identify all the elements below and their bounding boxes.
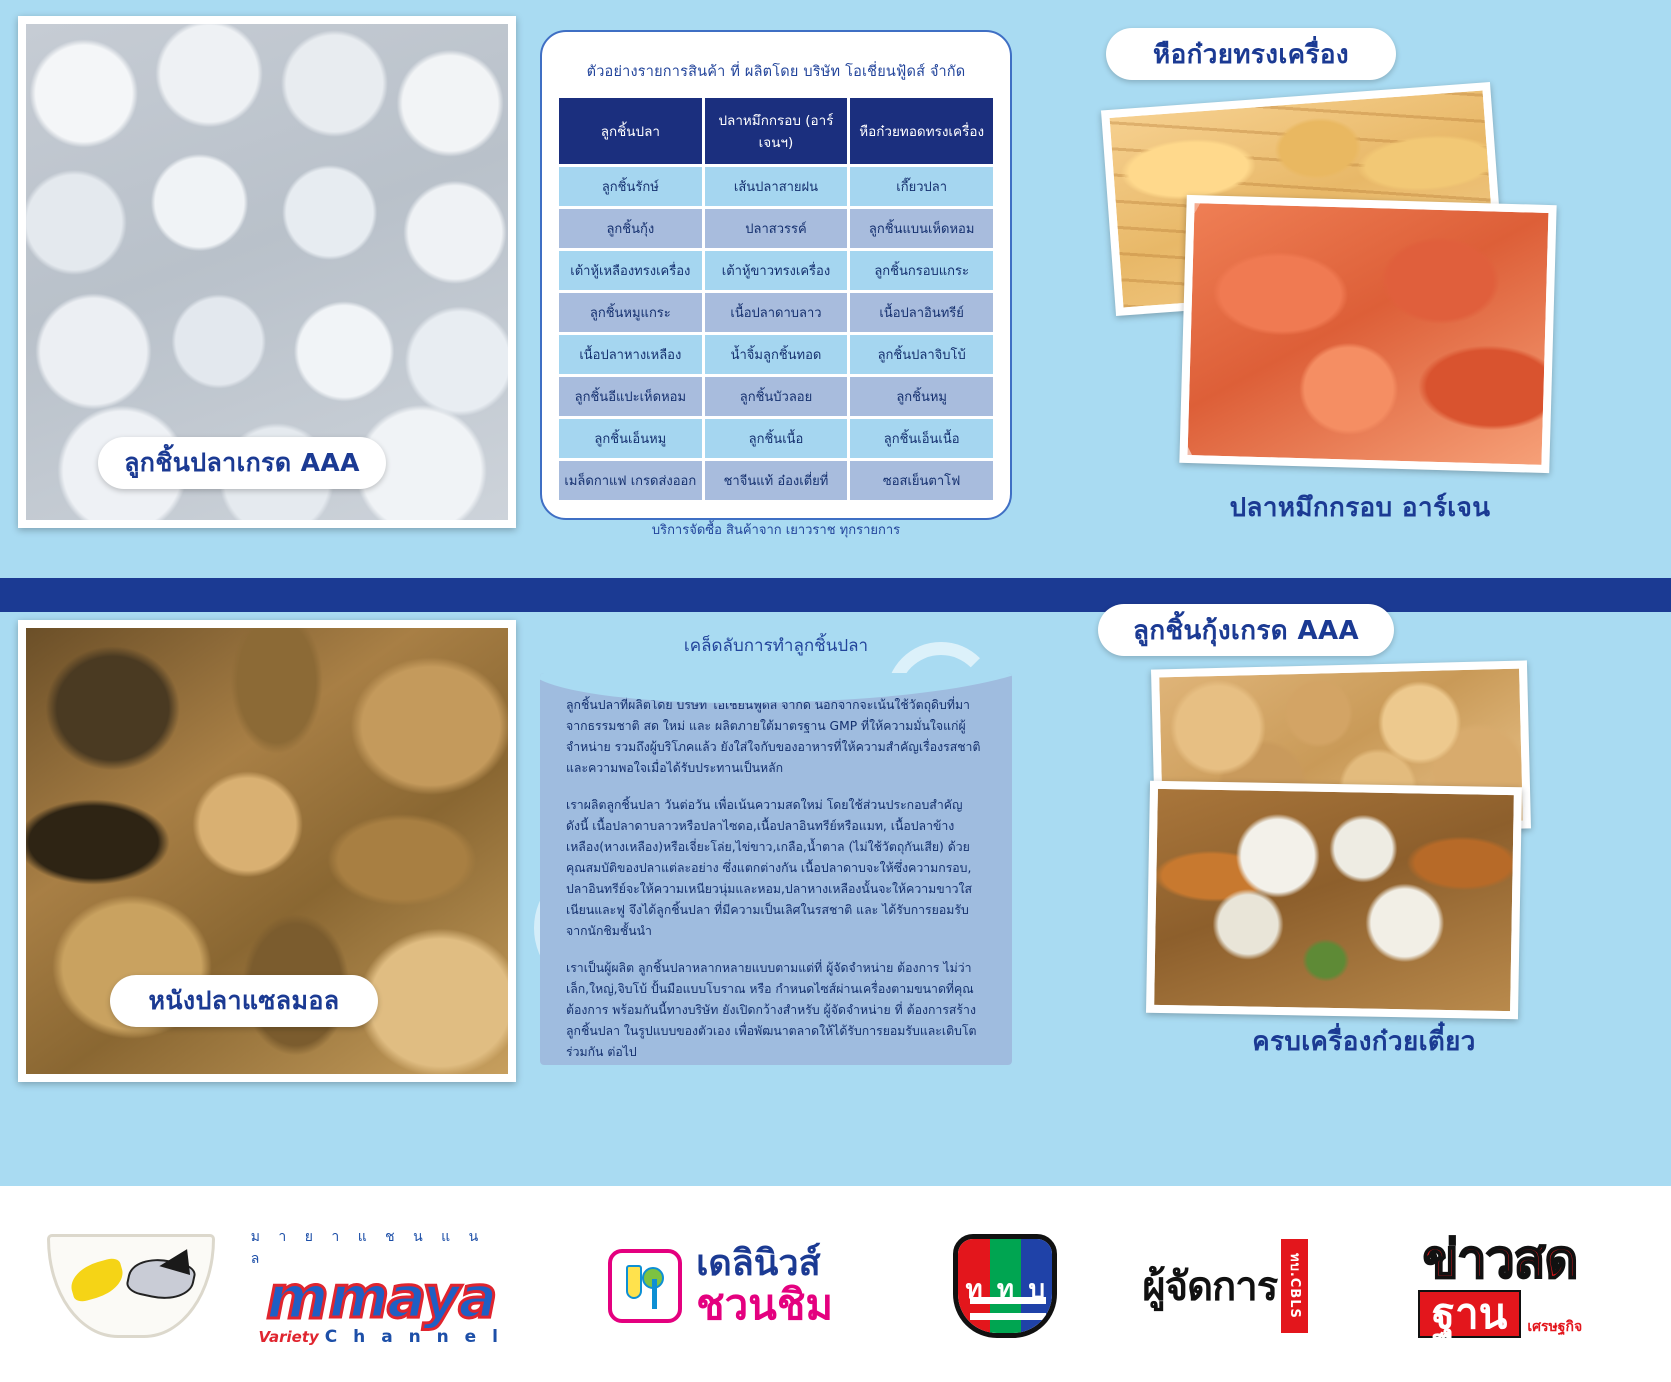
thansettakij-wordmark: ฐาน (1418, 1290, 1521, 1338)
dailynews-line1: เดลินิวส์ (696, 1246, 833, 1282)
table-cell: เต้าหู้ขาวทรงเครื่อง (705, 251, 848, 290)
partner-logo-strip: ม า ย า แ ช น แ น ล m maya Variety C h a… (0, 1190, 1671, 1382)
caption-squid: ปลาหมึกกรอบ อาร์เจน (1204, 482, 1516, 532)
maya-channel-label: C h a n n e l (325, 1327, 503, 1347)
glass-icon (626, 1265, 642, 1299)
table-row: เนื้อปลาหางเหลือง น้ำจิ้มลูกชิ้นทอด ลูกช… (559, 335, 993, 374)
caption-fishskin: หนังปลาแซลมอล (110, 975, 378, 1027)
table-cell: ลูกชิ้นเนื้อ (705, 419, 848, 458)
photo-squid (1179, 195, 1556, 473)
table-cell: ซอสเย็นตาโฟ (850, 461, 993, 500)
table-cell: ลูกชิ้นกรอบแกระ (850, 251, 993, 290)
yellow-fish-icon (66, 1256, 127, 1304)
product-table: ลูกชิ้นปลา ปลาหมึกกรอบ (อาร์เจนฯ) หือก๋ว… (556, 95, 996, 503)
maya-word: maya (329, 1271, 496, 1323)
table-col-header-0: ลูกชิ้นปลา (559, 98, 702, 164)
tv5-logo: ท ท บ (930, 1234, 1080, 1338)
khaosod-wordmark: ข่าวสด (1423, 1234, 1577, 1286)
photo-noodle (1146, 781, 1522, 1019)
bowl-logo-icon (41, 1234, 221, 1338)
table-row: ลูกชิ้นหมูแกระ เนื้อปลาดาบลาว เนื้อปลาอิ… (559, 293, 993, 332)
maya-channel-logo: ม า ย า แ ช น แ น ล m maya Variety C h a… (251, 1226, 511, 1347)
manager-tag: ทบ.CBLS (1281, 1239, 1308, 1333)
product-table-card: ตัวอย่างรายการสินค้า ที่ ผลิตโดย บริษัท … (540, 30, 1012, 520)
table-cell: ปลาสวรรค์ (705, 209, 848, 248)
product-table-footnote: บริการจัดซื้อ สินค้าจาก เยาวราช ทุกรายกา… (542, 503, 1010, 540)
table-cell: เมล็ดกาแฟ เกรดส่งออก (559, 461, 702, 500)
maya-footer: Variety C h a n n e l (259, 1327, 503, 1347)
product-table-title: ตัวอย่างรายการสินค้า ที่ ผลิตโดย บริษัท … (542, 32, 1010, 95)
fork-icon (652, 1279, 657, 1309)
dailynews-badge-icon (608, 1249, 682, 1323)
dailynews-logo: เดลินิวส์ ชวนชิม (541, 1246, 901, 1326)
table-cell: ชาจีนแท้ อ๋องเตี่ยที่ (705, 461, 848, 500)
noodle-image (1154, 789, 1514, 1011)
table-cell: เส้นปลาสายฝน (705, 167, 848, 206)
caption-noodle: ครบเครื่องก๋วยเตี๋ยว (1214, 1016, 1514, 1066)
table-col-header-2: หือก๋วยทอดทรงเครื่อง (850, 98, 993, 164)
table-cell: น้ำจิ้มลูกชิ้นทอด (705, 335, 848, 374)
dailynews-wordmark: เดลินิวส์ ชวนชิม (696, 1246, 833, 1326)
table-cell: ลูกชิ้นเอ็นหมู (559, 419, 702, 458)
manager-wordmark: ผู้จัดการ (1142, 1254, 1277, 1318)
caption-shrimpball: ลูกชิ้นกุ้งเกรด AAA (1098, 604, 1394, 656)
table-row: ลูกชิ้นรักษ์ เส้นปลาสายฝน เกี๊ยวปลา (559, 167, 993, 206)
squid-image (1188, 203, 1549, 465)
section-divider (0, 578, 1671, 612)
tips-paragraph: เราผลิตลูกชิ้นปลา วันต่อวัน เพื่อเน้นควา… (566, 795, 986, 943)
manager-logo: ผู้จัดการ ทบ.CBLS (1110, 1239, 1340, 1333)
table-cell: ลูกชิ้นเอ็นเนื้อ (850, 419, 993, 458)
dailynews-line2: ชวนชิม (696, 1284, 833, 1326)
table-cell: เนื้อปลาอินทรีย์ (850, 293, 993, 332)
table-cell: ลูกชิ้นหมูแกระ (559, 293, 702, 332)
tv5-shield-icon: ท ท บ (953, 1234, 1057, 1338)
table-cell: ลูกชิ้นกุ้ง (559, 209, 702, 248)
caption-fishball: ลูกชิ้นปลาเกรด AAA (98, 437, 386, 489)
table-col-header-1: ปลาหมึกกรอบ (อาร์เจนฯ) (705, 98, 848, 164)
table-cell: เนื้อปลาดาบลาว (705, 293, 848, 332)
khaosod-logo: ข่าวสด ฐาน เศรษฐกิจ (1370, 1234, 1630, 1338)
tv5-bar (970, 1297, 1046, 1304)
tips-paragraph: ลูกชิ้นปลาที่ผลิตโดย บริษัท โอเชี่ยนฟู้ด… (566, 695, 986, 780)
table-row: เต้าหู้เหลืองทรงเครื่อง เต้าหู้ขาวทรงเคร… (559, 251, 993, 290)
table-cell: ลูกชิ้นปลาจิบโบ้ (850, 335, 993, 374)
table-row: เมล็ดกาแฟ เกรดส่งออก ชาจีนแท้ อ๋องเตี่ยท… (559, 461, 993, 500)
table-cell: เนื้อปลาหางเหลือง (559, 335, 702, 374)
brochure-page: ลูกชิ้นปลาเกรด AAA ตัวอย่างรายการสินค้า … (0, 0, 1671, 1382)
thansettakij-sub-label: เศรษฐกิจ (1527, 1316, 1582, 1338)
table-cell: ลูกชิ้นรักษ์ (559, 167, 702, 206)
maya-m-letter: m (266, 1271, 329, 1325)
tips-paragraph: เราเป็นผู้ผลิต ลูกชิ้นปลาหลากหลายแบบตามแ… (566, 958, 986, 1064)
table-cell: ลูกชิ้นอีแปะเห็ดหอม (559, 377, 702, 416)
maya-wordmark: m maya (266, 1271, 495, 1325)
tv5-bar (970, 1313, 1046, 1320)
tips-heading: เคล็ดลับการทำลูกชิ้นปลา (540, 620, 1012, 673)
thansettakij-row: ฐาน เศรษฐกิจ (1418, 1290, 1582, 1338)
caption-hoikuay: หือก๋วยทรงเครื่อง (1106, 28, 1396, 80)
table-header-row: ลูกชิ้นปลา ปลาหมึกกรอบ (อาร์เจนฯ) หือก๋ว… (559, 98, 993, 164)
table-row: ลูกชิ้นอีแปะเห็ดหอม ลูกชิ้นบัวลอย ลูกชิ้… (559, 377, 993, 416)
table-cell: ลูกชิ้นบัวลอย (705, 377, 848, 416)
maya-variety-label: Variety (259, 1328, 319, 1346)
table-cell: เกี๊ยวปลา (850, 167, 993, 206)
table-cell: เต้าหู้เหลืองทรงเครื่อง (559, 251, 702, 290)
tips-card: เคล็ดลับการทำลูกชิ้นปลา ลูกชิ้นปลาที่ผลิ… (540, 620, 1012, 1072)
bowl-shape (47, 1234, 215, 1338)
table-row: ลูกชิ้นเอ็นหมู ลูกชิ้นเนื้อ ลูกชิ้นเอ็นเ… (559, 419, 993, 458)
table-row: ลูกชิ้นกุ้ง ปลาสวรรค์ ลูกชิ้นแบนเห็ดหอม (559, 209, 993, 248)
table-cell: ลูกชิ้นแบนเห็ดหอม (850, 209, 993, 248)
table-cell: ลูกชิ้นหมู (850, 377, 993, 416)
tips-body: ลูกชิ้นปลาที่ผลิตโดย บริษัท โอเชี่ยนฟู้ด… (540, 673, 1012, 1065)
